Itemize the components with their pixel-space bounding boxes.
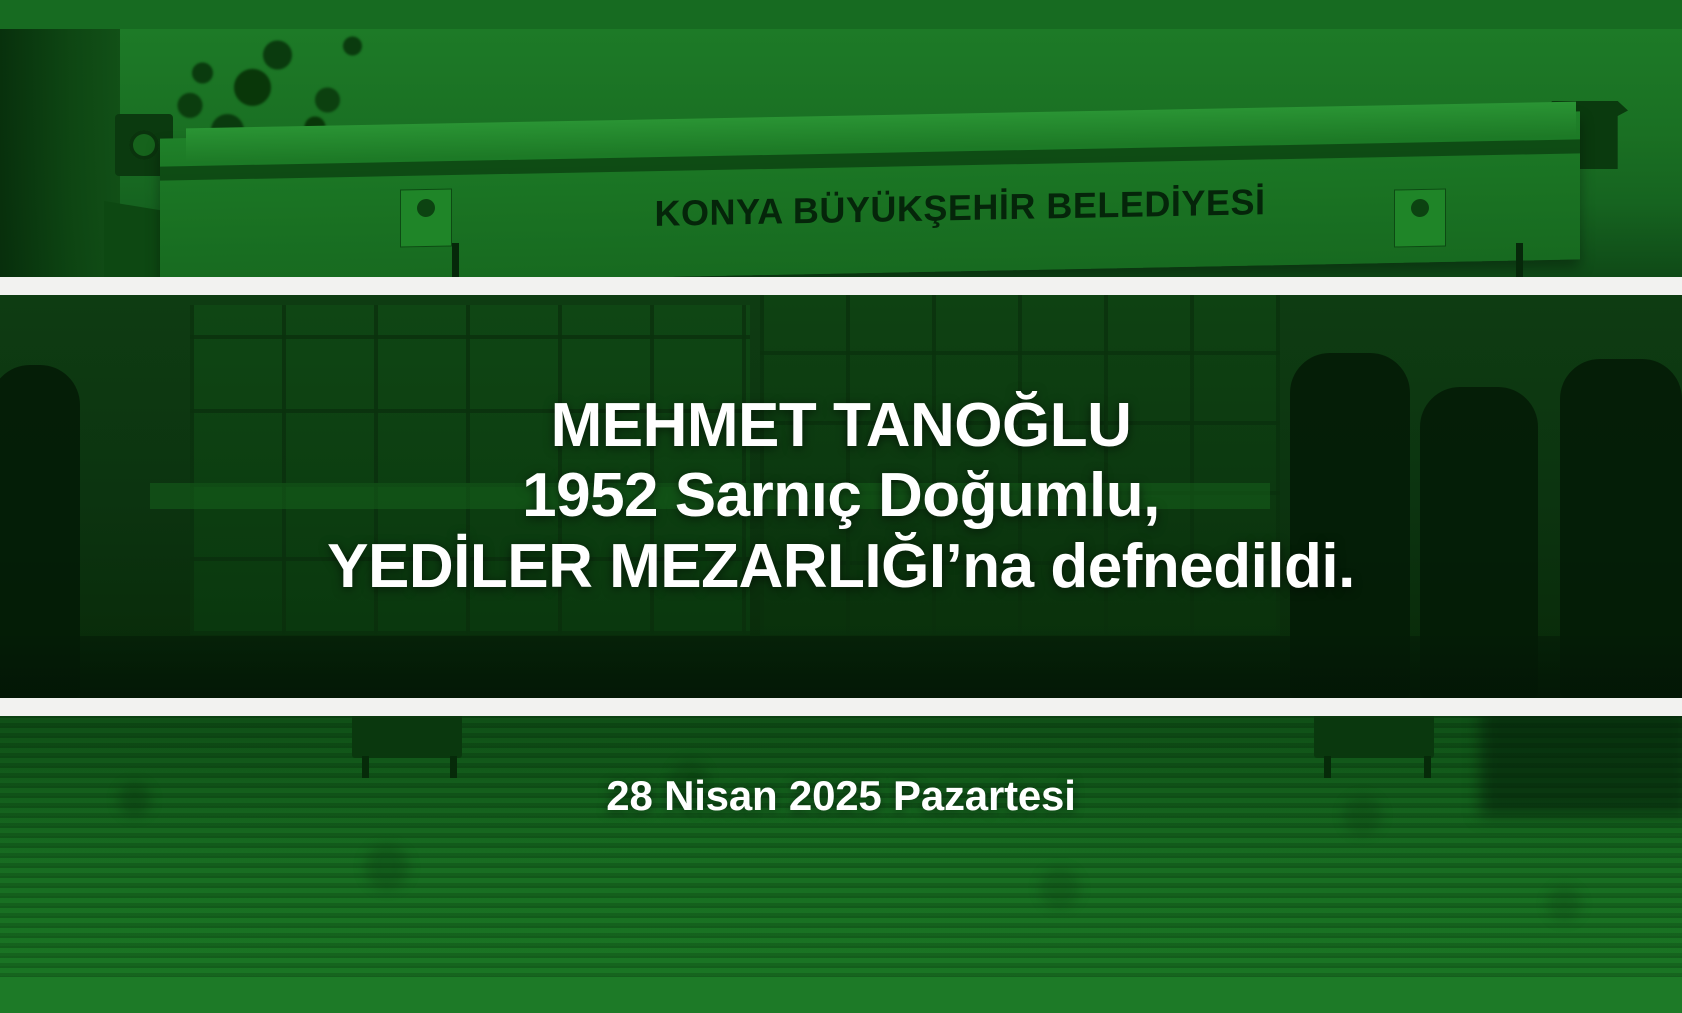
funeral-date: 28 Nisan 2025 Pazartesi: [0, 772, 1682, 820]
coffin-cart-right: [1314, 716, 1434, 758]
municipality-logo-right-icon: [1394, 189, 1446, 248]
divider-top: [0, 277, 1682, 297]
coffin-photo-band: KONYA BÜYÜKŞEHİR BELEDİYESİ: [0, 29, 1682, 277]
date-band: 28 Nisan 2025 Pazartesi: [0, 716, 1682, 977]
obituary-poster: KONYA BÜYÜKŞEHİR BELEDİYESİ MEHMET TANOĞ…: [0, 0, 1682, 1013]
headline-text-block: MEHMET TANOĞLU 1952 Sarnıç Doğumlu, YEDİ…: [0, 295, 1682, 698]
coffin-stand-leg: [452, 243, 459, 277]
headline-band: MEHMET TANOĞLU 1952 Sarnıç Doğumlu, YEDİ…: [0, 295, 1682, 698]
top-green-strip: [0, 0, 1682, 29]
municipality-logo-left-icon: [400, 189, 452, 248]
burial-info: YEDİLER MEZARLIĞI’na defnedildi.: [327, 532, 1355, 602]
coffin-cart-left: [352, 716, 462, 758]
bottom-green-strip: [0, 977, 1682, 1013]
left-pillar: [0, 29, 120, 277]
coffin-stand-leg: [1516, 243, 1523, 277]
deceased-name: MEHMET TANOĞLU: [551, 391, 1132, 461]
divider-bottom: [0, 698, 1682, 718]
birth-info: 1952 Sarnıç Doğumlu,: [522, 461, 1160, 531]
